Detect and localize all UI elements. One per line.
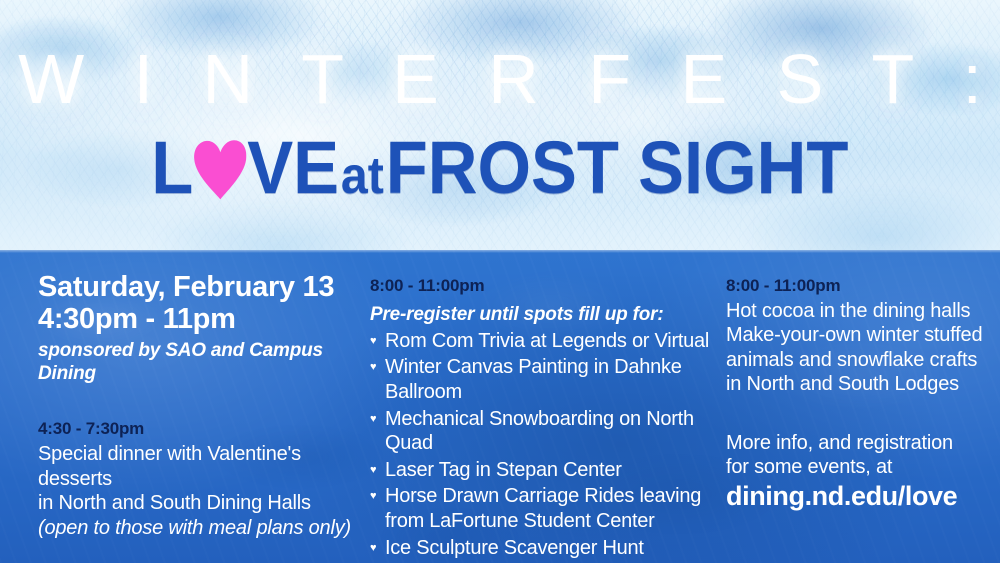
- lodges-line-3: animals and snowflake crafts: [726, 348, 988, 372]
- list-item-label: Mechanical Snowboarding on North Quad: [385, 408, 694, 455]
- poster-title-block: W I N T E R F E S T :: [0, 44, 1000, 114]
- more-info-block: More info, and registration for some eve…: [726, 431, 988, 512]
- list-item: ♥Winter Canvas Painting in Dahnke Ballro…: [370, 355, 710, 404]
- list-item: ♥Laser Tag in Stepan Center: [370, 458, 710, 483]
- subtitle-word-at: at: [339, 147, 386, 205]
- heart-bullet-icon: ♥: [370, 459, 376, 481]
- subtitle-letter-l: L: [151, 126, 193, 209]
- column-middle: 8:00 - 11:00pm Pre-register until spots …: [370, 276, 710, 562]
- activities-list: ♥Rom Com Trivia at Legends or Virtual ♥W…: [370, 329, 710, 560]
- subtitle-letters-ve: VE: [247, 126, 339, 209]
- list-item-label: Ice Sculpture Scavenger Hunt: [385, 537, 644, 559]
- lodges-line-1: Hot cocoa in the dining halls: [726, 299, 988, 323]
- panel-top-highlight: [0, 250, 1000, 253]
- pre-register-intro: Pre-register until spots fill up for:: [370, 304, 710, 327]
- list-item-label: Horse Drawn Carriage Rides leaving from …: [385, 485, 701, 532]
- list-item-label: Laser Tag in Stepan Center: [385, 459, 622, 481]
- list-item: ♥Rom Com Trivia at Legends or Virtual: [370, 329, 710, 354]
- registration-url[interactable]: dining.nd.edu/love: [726, 481, 988, 511]
- poster-subtitle-block: LVEatFROST SIGHT: [0, 131, 1000, 205]
- column-left: Saturday, February 13 4:30pm - 11pm spon…: [38, 272, 368, 540]
- list-item: ♥Horse Drawn Carriage Rides leaving from…: [370, 484, 710, 533]
- heart-bullet-icon: ♥: [370, 485, 376, 507]
- activities-time: 8:00 - 11:00pm: [370, 276, 710, 296]
- heart-bullet-icon: ♥: [370, 408, 376, 430]
- event-date: Saturday, February 13: [38, 272, 368, 304]
- list-item-label: Winter Canvas Painting in Dahnke Ballroo…: [385, 356, 682, 403]
- column-right: 8:00 - 11:00pm Hot cocoa in the dining h…: [726, 276, 988, 512]
- subtitle-frost-sight: FROST SIGHT: [386, 126, 849, 209]
- list-item: ♥Ice Sculpture Scavenger Hunt: [370, 536, 710, 561]
- event-sponsor: sponsored by SAO and Campus Dining: [38, 340, 368, 386]
- heart-bullet-icon: ♥: [370, 356, 376, 378]
- lodges-line-2: Make-your-own winter stuffed: [726, 323, 988, 347]
- poster-subtitle: LVEatFROST SIGHT: [151, 131, 848, 205]
- poster-title: W I N T E R F E S T :: [0, 44, 1000, 114]
- lodges-line-4: in North and South Lodges: [726, 372, 988, 396]
- event-time: 4:30pm - 11pm: [38, 304, 368, 336]
- list-item-label: Rom Com Trivia at Legends or Virtual: [385, 330, 709, 352]
- dinner-time: 4:30 - 7:30pm: [38, 419, 368, 439]
- dinner-block: 4:30 - 7:30pm Special dinner with Valent…: [38, 419, 368, 540]
- heart-icon: [193, 138, 249, 200]
- more-info-line-1: More info, and registration: [726, 431, 988, 455]
- dinner-line-1: Special dinner with Valentine's desserts: [38, 442, 368, 491]
- dinner-note: (open to those with meal plans only): [38, 516, 368, 540]
- heart-bullet-icon: ♥: [370, 537, 376, 559]
- lodges-time: 8:00 - 11:00pm: [726, 276, 988, 296]
- winterfest-poster: W I N T E R F E S T : LVEatFROST SIGHT S…: [0, 0, 1000, 563]
- list-item: ♥Mechanical Snowboarding on North Quad: [370, 407, 710, 456]
- dinner-line-2: in North and South Dining Halls: [38, 491, 368, 515]
- more-info-line-2: for some events, at: [726, 455, 988, 479]
- heart-bullet-icon: ♥: [370, 330, 376, 352]
